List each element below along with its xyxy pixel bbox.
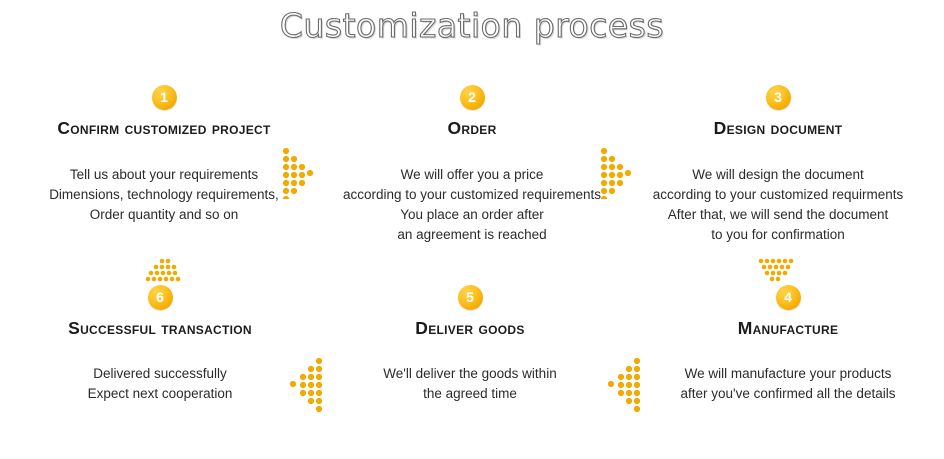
step-5-number-badge: 5 (458, 285, 483, 310)
step-2-line-3: You place an order after (322, 205, 622, 225)
page-title: Customization process (0, 6, 944, 45)
step-2-line-2: according to your customized requirement… (322, 185, 622, 205)
step-5-title: Deliver goods (320, 318, 620, 339)
arrow-step4-to-step5-icon (600, 357, 648, 413)
arrow-step1-to-step2-icon (281, 147, 329, 199)
arrow-step3-to-step4-icon (758, 258, 800, 284)
step-5: 5 Deliver goods We'll deliver the goods … (320, 285, 620, 404)
step-1-line-3: Order quantity and so on (14, 205, 314, 225)
step-1-line-1: Tell us about your requirements (14, 165, 314, 185)
step-5-line-2: the agreed time (320, 384, 620, 404)
step-5-line-1: We'll deliver the goods within (320, 364, 620, 384)
step-3-line-3: After that, we will send the document (628, 205, 928, 225)
step-6-title: Successful transaction (10, 318, 310, 339)
step-1: 1 Confirm customized project Tell us abo… (14, 85, 314, 225)
arrow-step2-to-step3-icon (599, 147, 647, 199)
step-2: 2 Order We will offer you a price accord… (322, 85, 622, 245)
step-2-title: Order (322, 118, 622, 139)
step-6-body: Delivered successfully Expect next coope… (10, 364, 310, 404)
step-3: 3 Design document We will design the doc… (628, 85, 928, 245)
step-3-line-4: to you for confirmation (628, 225, 928, 245)
step-6-number-badge: 6 (148, 285, 173, 310)
step-2-line-4: an agreement is reached (322, 225, 622, 245)
step-1-number-badge: 1 (152, 85, 177, 110)
step-4-line-2: after you've confirmed all the details (638, 384, 938, 404)
step-1-title: Confirm customized project (14, 118, 314, 139)
step-3-title: Design document (628, 118, 928, 139)
step-3-body: We will design the document according to… (628, 165, 928, 245)
step-6-line-2: Expect next cooperation (10, 384, 310, 404)
step-5-body: We'll deliver the goods within the agree… (320, 364, 620, 404)
step-2-number-badge: 2 (460, 85, 485, 110)
arrow-step6-continue-icon (145, 258, 187, 284)
step-6: 6 Successful transaction Delivered succe… (10, 285, 310, 404)
step-4-number-badge: 4 (776, 285, 801, 310)
step-4: 4 Manufacture We will manufacture your p… (638, 285, 938, 404)
step-4-body: We will manufacture your products after … (638, 364, 938, 404)
step-3-line-1: We will design the document (628, 165, 928, 185)
step-4-title: Manufacture (638, 318, 938, 339)
step-1-line-2: Dimensions, technology requirements, (14, 185, 314, 205)
step-2-body: We will offer you a price according to y… (322, 165, 622, 245)
step-3-line-2: according to your customized requirments (628, 185, 928, 205)
step-2-line-1: We will offer you a price (322, 165, 622, 185)
customization-process-diagram: Customization process 1 Confirm customiz… (0, 0, 944, 459)
step-6-line-1: Delivered successfully (10, 364, 310, 384)
arrow-step5-to-step6-icon (282, 357, 330, 413)
step-1-body: Tell us about your requirements Dimensio… (14, 165, 314, 225)
step-4-line-1: We will manufacture your products (638, 364, 938, 384)
step-3-number-badge: 3 (766, 85, 791, 110)
